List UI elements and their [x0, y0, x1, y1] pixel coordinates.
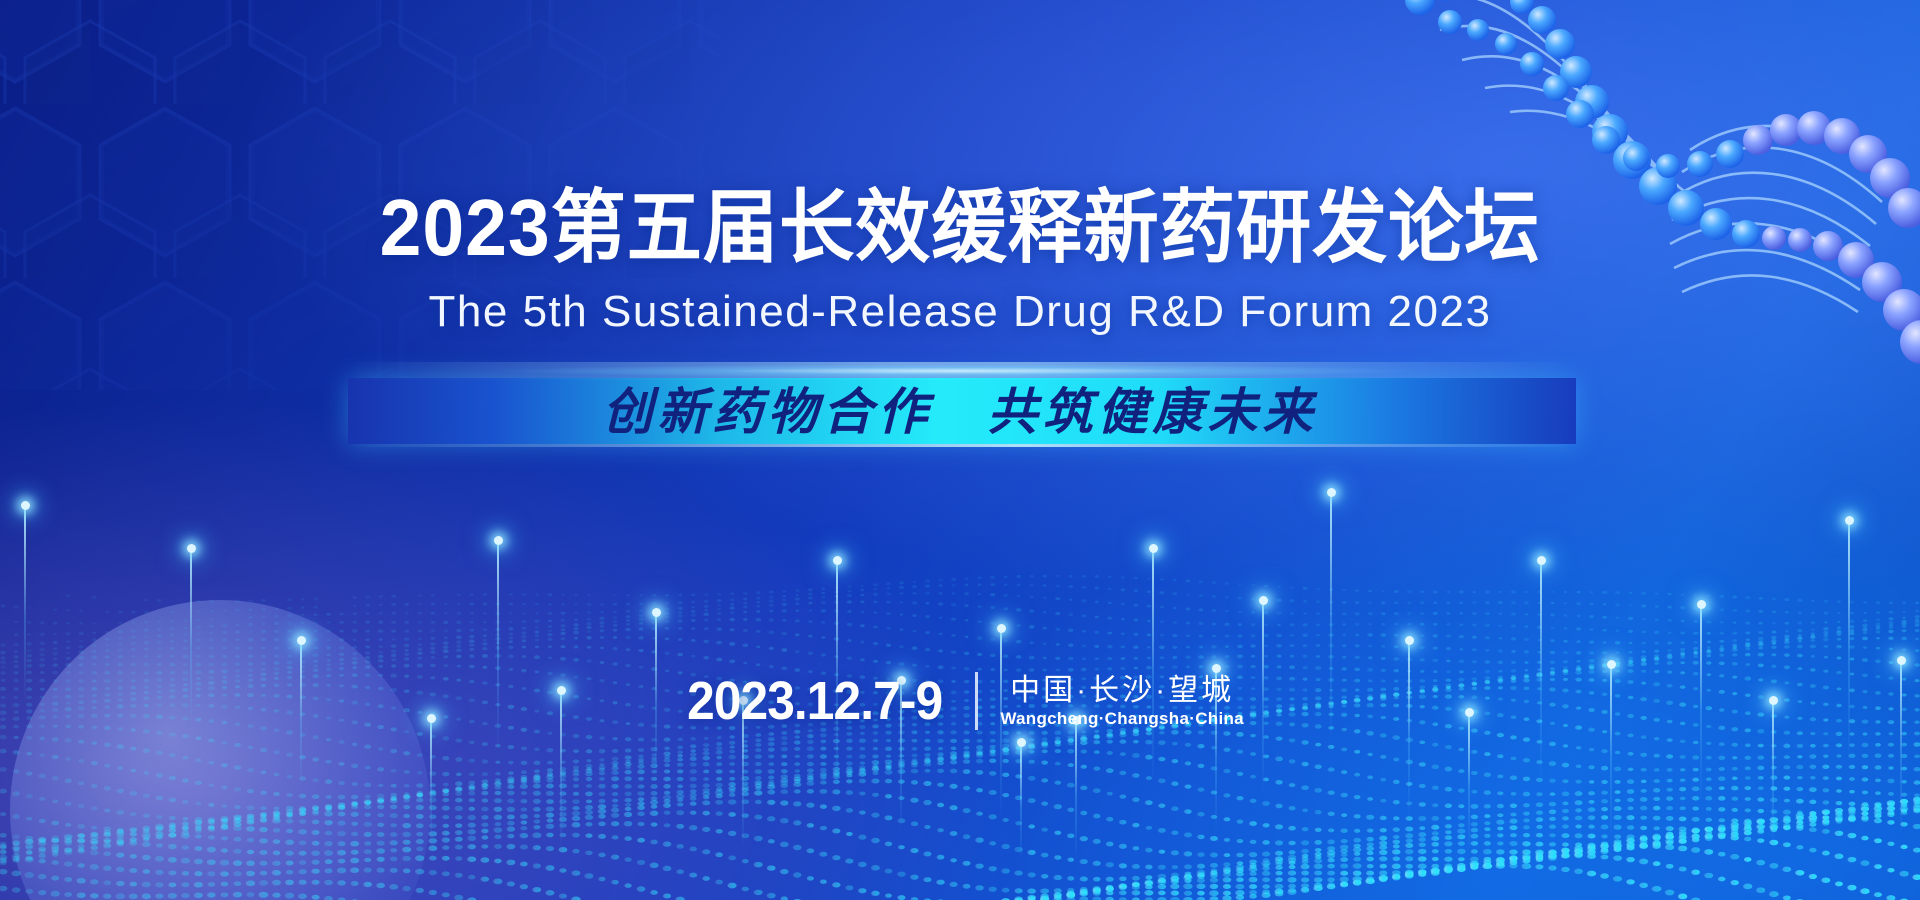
event-date: 2023.12.7-9 [687, 674, 942, 728]
event-meta: 2023.12.7-9 中国·长沙·望城 Wangcheng·Changsha·… [0, 672, 1920, 730]
event-location-cn: 中国·长沙·望城 [1010, 674, 1234, 707]
banner-text-block: 2023第五届长效缓释新药研发论坛 The 5th Sustained-Rele… [0, 0, 1920, 900]
meta-divider [975, 672, 978, 730]
event-location-en: Wangcheng·Changsha·China [1000, 710, 1244, 729]
event-location: 中国·长沙·望城 Wangcheng·Changsha·China [1000, 674, 1244, 729]
slogan-text: 创新药物合作 共筑健康未来 [0, 382, 1920, 442]
page-title: 2023第五届长效缓释新药研发论坛 [58, 188, 1863, 268]
conference-banner: 2023第五届长效缓释新药研发论坛 The 5th Sustained-Rele… [0, 0, 1920, 900]
page-subtitle-english: The 5th Sustained-Release Drug R&D Forum… [0, 290, 1920, 334]
